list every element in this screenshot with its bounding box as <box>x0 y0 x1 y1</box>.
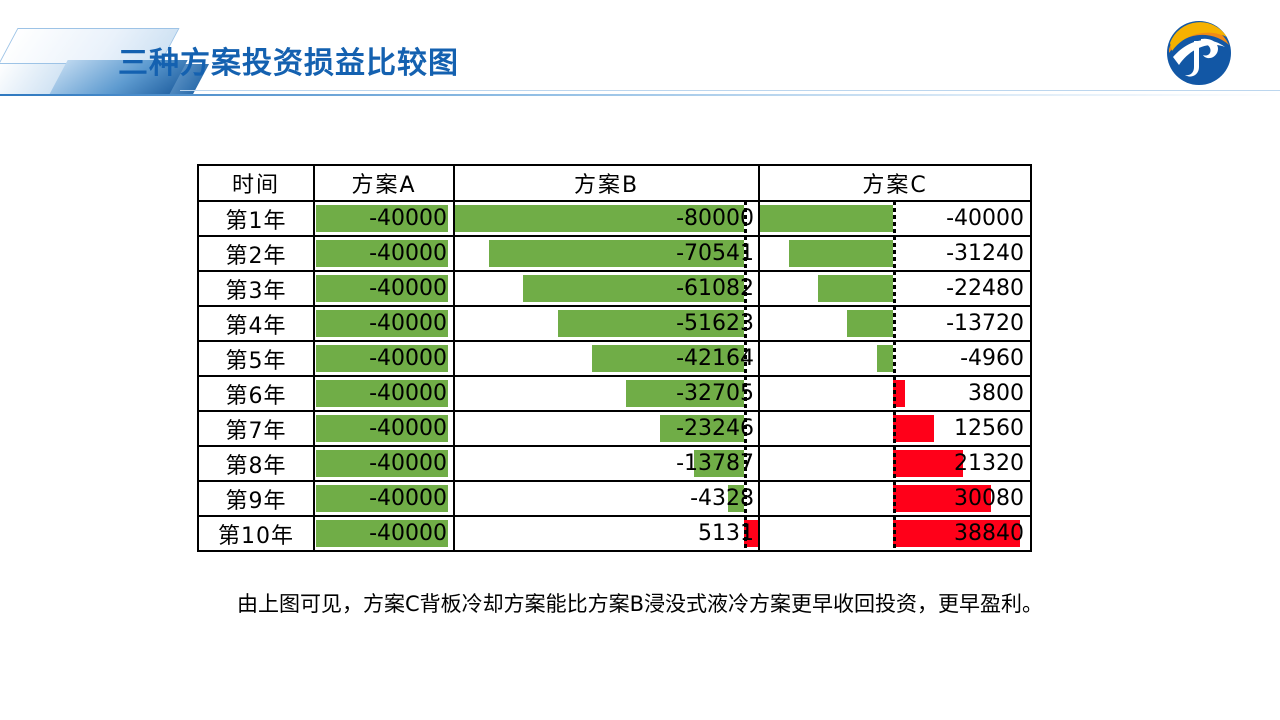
cell-value-plan-b: -70541 <box>676 237 754 270</box>
table-row: 第2年-40000-70541-31240 <box>198 236 1031 271</box>
cell-value-plan-b: -23246 <box>676 412 754 445</box>
zero-axis-line <box>893 516 896 551</box>
cell-value-plan-b: -4328 <box>690 482 754 515</box>
cell-value-plan-b: -61082 <box>676 272 754 305</box>
cell-value-plan-b: -42164 <box>676 342 754 375</box>
row-label-year: 第5年 <box>198 341 314 376</box>
table-row: 第10年-40000513138840 <box>198 516 1031 551</box>
cell-plan-c: -4960 <box>759 341 1031 376</box>
cell-plan-b: -13787 <box>454 446 759 481</box>
cell-value-plan-c: 30080 <box>954 482 1024 515</box>
table-row: 第7年-40000-2324612560 <box>198 411 1031 446</box>
zero-axis-line <box>893 446 896 481</box>
cell-plan-b: -61082 <box>454 271 759 306</box>
row-label-year: 第2年 <box>198 236 314 271</box>
cell-value-plan-b: 5131 <box>698 517 754 550</box>
table-body: 第1年-40000-80000-40000第2年-40000-70541-312… <box>198 201 1031 551</box>
table-row: 第6年-40000-327053800 <box>198 376 1031 411</box>
cell-plan-a: -40000 <box>314 236 454 271</box>
cell-plan-a: -40000 <box>314 341 454 376</box>
cell-plan-b: -80000 <box>454 201 759 236</box>
cell-value-plan-a: -40000 <box>369 342 447 375</box>
company-logo-icon <box>1163 17 1235 89</box>
zero-axis-line <box>893 376 896 411</box>
cell-value-plan-a: -40000 <box>369 272 447 305</box>
column-header-plan-b: 方案B <box>454 165 759 201</box>
table-row: 第9年-40000-432830080 <box>198 481 1031 516</box>
row-label-year: 第9年 <box>198 481 314 516</box>
zero-axis-line <box>893 411 896 446</box>
slide-header: 三种方案投资损益比较图 <box>0 0 1280 100</box>
cell-value-plan-c: -31240 <box>946 237 1024 270</box>
data-bar-negative <box>818 275 893 302</box>
cell-plan-b: -51623 <box>454 306 759 341</box>
cell-plan-a: -40000 <box>314 481 454 516</box>
cell-plan-c: 21320 <box>759 446 1031 481</box>
cell-plan-c: -40000 <box>759 201 1031 236</box>
cell-plan-b: -70541 <box>454 236 759 271</box>
cell-plan-a: -40000 <box>314 516 454 551</box>
cell-plan-c: -13720 <box>759 306 1031 341</box>
zero-axis-line <box>893 306 896 341</box>
table-row: 第5年-40000-42164-4960 <box>198 341 1031 376</box>
zero-axis-line <box>893 481 896 516</box>
table-row: 第8年-40000-1378721320 <box>198 446 1031 481</box>
row-label-year: 第1年 <box>198 201 314 236</box>
cell-value-plan-b: -32705 <box>676 377 754 410</box>
cell-value-plan-c: 12560 <box>954 412 1024 445</box>
cell-value-plan-a: -40000 <box>369 412 447 445</box>
cell-plan-b: -32705 <box>454 376 759 411</box>
cell-plan-c: 3800 <box>759 376 1031 411</box>
table-row: 第4年-40000-51623-13720 <box>198 306 1031 341</box>
cell-plan-b: -4328 <box>454 481 759 516</box>
cell-value-plan-c: -4960 <box>960 342 1024 375</box>
cell-plan-c: 12560 <box>759 411 1031 446</box>
table-row: 第1年-40000-80000-40000 <box>198 201 1031 236</box>
data-bar-negative <box>789 240 893 267</box>
row-label-year: 第7年 <box>198 411 314 446</box>
header-hairline <box>180 90 1280 91</box>
cell-value-plan-b: -13787 <box>676 447 754 480</box>
cell-plan-a: -40000 <box>314 376 454 411</box>
cell-value-plan-a: -40000 <box>369 447 447 480</box>
cell-plan-c: 38840 <box>759 516 1031 551</box>
data-bar-negative <box>847 310 893 337</box>
header-underline <box>0 94 1280 96</box>
caption-text: 由上图可见，方案C背板冷却方案能比方案B浸没式液冷方案更早收回投资，更早盈利。 <box>0 588 1280 618</box>
cell-plan-c: -31240 <box>759 236 1031 271</box>
cell-plan-c: -22480 <box>759 271 1031 306</box>
cell-value-plan-c: 21320 <box>954 447 1024 480</box>
cell-plan-a: -40000 <box>314 271 454 306</box>
cell-value-plan-a: -40000 <box>369 517 447 550</box>
cell-value-plan-b: -80000 <box>676 202 754 235</box>
zero-axis-line <box>893 236 896 271</box>
cell-value-plan-c: -13720 <box>946 307 1024 340</box>
data-bar-positive <box>893 450 963 477</box>
cell-plan-a: -40000 <box>314 446 454 481</box>
cell-plan-c: 30080 <box>759 481 1031 516</box>
zero-axis-line <box>893 201 896 236</box>
cell-value-plan-c: -40000 <box>946 202 1024 235</box>
data-bar-negative <box>877 345 893 372</box>
cell-value-plan-a: -40000 <box>369 482 447 515</box>
row-label-year: 第4年 <box>198 306 314 341</box>
data-bar-positive <box>893 415 934 442</box>
cell-plan-a: -40000 <box>314 306 454 341</box>
page-title: 三种方案投资损益比较图 <box>118 38 459 82</box>
cell-value-plan-c: 38840 <box>954 517 1024 550</box>
table-row: 第3年-40000-61082-22480 <box>198 271 1031 306</box>
table-header-row: 时间 方案A 方案B 方案C <box>198 165 1031 201</box>
row-label-year: 第10年 <box>198 516 314 551</box>
cell-value-plan-a: -40000 <box>369 237 447 270</box>
zero-axis-line <box>893 271 896 306</box>
cell-plan-b: -42164 <box>454 341 759 376</box>
cell-value-plan-a: -40000 <box>369 307 447 340</box>
row-label-year: 第8年 <box>198 446 314 481</box>
column-header-plan-c: 方案C <box>759 165 1031 201</box>
row-label-year: 第6年 <box>198 376 314 411</box>
cell-value-plan-b: -51623 <box>676 307 754 340</box>
column-header-plan-a: 方案A <box>314 165 454 201</box>
cell-value-plan-c: 3800 <box>968 377 1024 410</box>
cell-value-plan-a: -40000 <box>369 202 447 235</box>
cell-plan-a: -40000 <box>314 411 454 446</box>
investment-comparison-table: 时间 方案A 方案B 方案C 第1年-40000-80000-40000第2年-… <box>197 164 1032 552</box>
column-header-time: 时间 <box>198 165 314 201</box>
cell-plan-b: 5131 <box>454 516 759 551</box>
row-label-year: 第3年 <box>198 271 314 306</box>
cell-plan-b: -23246 <box>454 411 759 446</box>
cell-plan-a: -40000 <box>314 201 454 236</box>
zero-axis-line <box>893 341 896 376</box>
cell-value-plan-c: -22480 <box>946 272 1024 305</box>
data-bar-negative <box>760 205 893 232</box>
cell-value-plan-a: -40000 <box>369 377 447 410</box>
